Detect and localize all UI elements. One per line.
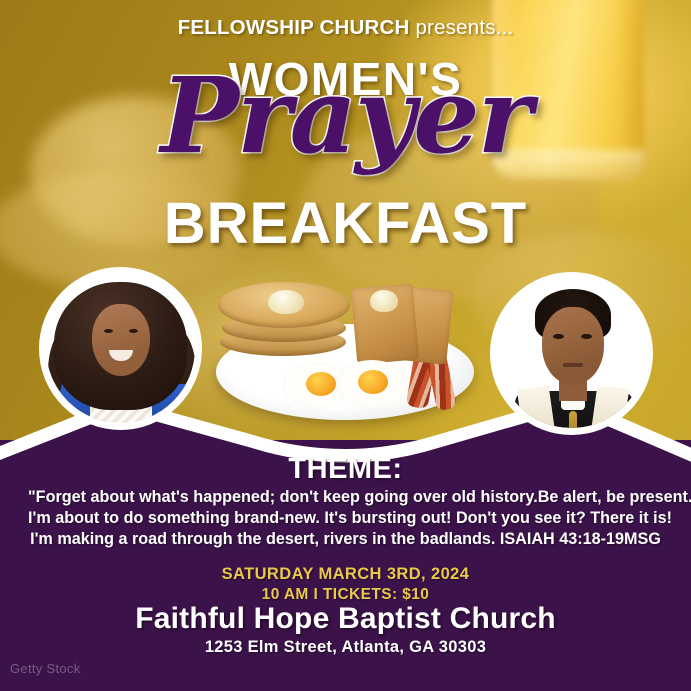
eye-left [104, 329, 113, 333]
flyer-poster: FELLOWSHIP CHURCH presents... WOMEN'S Pr… [0, 0, 691, 691]
mouth [563, 363, 583, 367]
watermark: Getty Stock [10, 661, 81, 676]
scripture-text: "Forget about what's happened; don't kee… [28, 487, 663, 550]
scripture-line-1: "Forget about what's happened; don't kee… [28, 487, 663, 508]
eye-right [581, 334, 592, 339]
title-line-breakfast: BREAKFAST [0, 190, 691, 257]
scripture-line-2: I'm about to do something brand-new. It'… [28, 508, 663, 529]
speaker-portrait-right [490, 272, 653, 435]
butter-pat [268, 290, 304, 314]
organization-name: FELLOWSHIP CHURCH [178, 16, 410, 39]
pendant-chain [569, 411, 577, 428]
eye-right [129, 329, 138, 333]
butter-pat [370, 290, 398, 312]
egg-yolk [306, 372, 336, 396]
event-date: SATURDAY MARCH 3RD, 2024 [0, 565, 691, 584]
breakfast-plate-image [208, 272, 480, 424]
theme-heading: THEME: [0, 453, 691, 486]
speaker-portrait-left [39, 267, 202, 430]
scripture-line-3: I'm making a road through the desert, ri… [28, 529, 663, 550]
presents-suffix: presents... [410, 16, 514, 39]
event-address: 1253 Elm Street, Atlanta, GA 30303 [0, 638, 691, 657]
title-script-prayer: Prayer [0, 60, 691, 172]
face [542, 307, 604, 385]
face [92, 304, 150, 376]
presents-header: FELLOWSHIP CHURCH presents... [0, 16, 691, 40]
egg-yolk [358, 370, 388, 394]
eye-left [553, 334, 564, 339]
event-venue: Faithful Hope Baptist Church [0, 602, 691, 636]
